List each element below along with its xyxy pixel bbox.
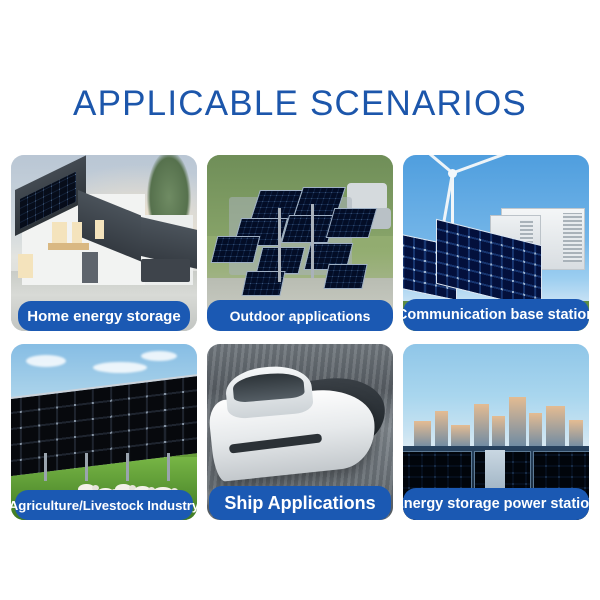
scenario-card-agriculture-livestock-industry[interactable]: Agriculture/Livestock Industry	[11, 344, 197, 520]
page-title: APPLICABLE SCENARIOS	[0, 84, 600, 124]
applicable-scenarios-page: APPLICABLE SCENARIOS	[0, 0, 600, 600]
scenario-card-home-energy-storage[interactable]: Home energy storage	[11, 155, 197, 331]
scenario-grid: Home energy storage	[11, 155, 589, 520]
scenario-label-ship-applications: Ship Applications	[209, 486, 391, 520]
scenario-card-outdoor-applications[interactable]: Outdoor applications	[207, 155, 393, 331]
scenario-card-communication-base-station[interactable]: Communication base station	[403, 155, 589, 331]
scenario-label-home-energy-storage: Home energy storage	[18, 301, 190, 331]
scenario-label-agriculture-livestock-industry: Agriculture/Livestock Industry	[15, 490, 193, 520]
scenario-label-communication-base-station: Communication base station	[403, 299, 589, 331]
scenario-label-outdoor-applications: Outdoor applications	[207, 300, 393, 331]
scenario-card-energy-storage-power-station[interactable]: Energy storage power station	[403, 344, 589, 520]
scenario-label-energy-storage-power-station: Energy storage power station	[403, 488, 589, 520]
scenario-card-ship-applications[interactable]: Ship Applications	[207, 344, 393, 520]
